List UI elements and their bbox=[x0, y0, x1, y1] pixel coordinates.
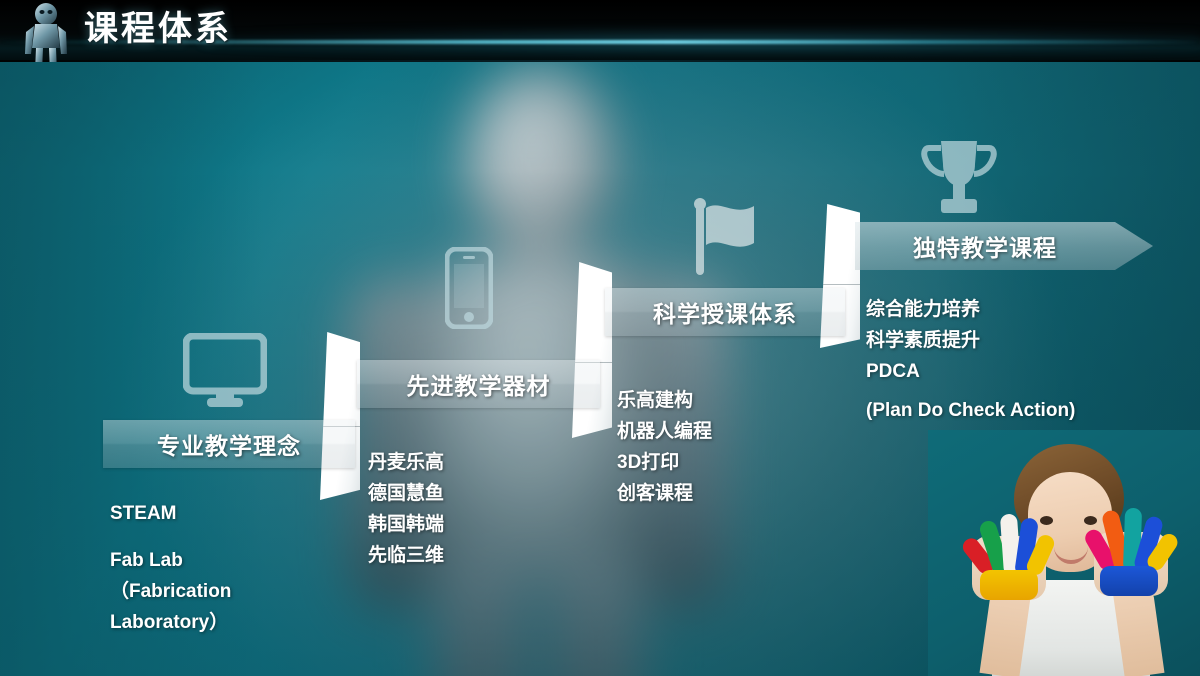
step-2-title-bar[interactable]: 先进教学器材 bbox=[357, 360, 600, 408]
list-item: Fab Lab bbox=[110, 545, 231, 576]
list-item: 德国慧鱼 bbox=[368, 478, 444, 509]
list-item: 创客课程 bbox=[617, 478, 712, 509]
monitor-icon bbox=[183, 333, 267, 411]
painted-hand-right bbox=[1094, 532, 1168, 596]
slide-canvas: 课程体系 bbox=[0, 0, 1200, 676]
slide-header: 课程体系 bbox=[0, 0, 1200, 62]
painted-hand-left bbox=[972, 536, 1046, 600]
list-item: 机器人编程 bbox=[617, 416, 712, 447]
list-item: （Fabrication bbox=[110, 576, 231, 607]
list-item: 先临三维 bbox=[368, 540, 444, 571]
smartphone-icon bbox=[445, 247, 493, 329]
step-4-item-list: 综合能力培养 科学素质提升 PDCA (Plan Do Check Action… bbox=[866, 294, 1075, 426]
list-item: 综合能力培养 bbox=[866, 294, 1075, 325]
step-4-title-bar[interactable]: 独特教学课程 bbox=[855, 222, 1153, 270]
step-4-title: 独特教学课程 bbox=[913, 229, 1057, 263]
robot-mascot-icon bbox=[16, 2, 76, 62]
step-3-title-bar[interactable]: 科学授课体系 bbox=[605, 288, 845, 336]
list-item: 乐高建构 bbox=[617, 385, 712, 416]
list-item: 科学素质提升 bbox=[866, 325, 1075, 356]
list-item: STEAM bbox=[110, 498, 231, 529]
list-item: (Plan Do Check Action) bbox=[866, 395, 1075, 426]
step-1-title-bar[interactable]: 专业教学理念 bbox=[103, 420, 355, 468]
trophy-icon bbox=[917, 138, 1001, 218]
step-3-title: 科学授课体系 bbox=[653, 295, 797, 329]
step-1-title: 专业教学理念 bbox=[157, 427, 301, 461]
list-item: 韩国韩端 bbox=[368, 509, 444, 540]
header-bottom-edge bbox=[0, 60, 1200, 62]
page-title: 课程体系 bbox=[84, 5, 232, 53]
list-item: Laboratory） bbox=[110, 607, 231, 638]
girl-with-painted-hands-photo bbox=[928, 430, 1200, 676]
step-1-item-list: STEAM Fab Lab （Fabrication Laboratory） bbox=[110, 498, 231, 638]
list-item: 3D打印 bbox=[617, 447, 712, 478]
step-3-item-list: 乐高建构 机器人编程 3D打印 创客课程 bbox=[617, 385, 712, 509]
step-2-item-list: 丹麦乐高 德国慧鱼 韩国韩端 先临三维 bbox=[368, 447, 444, 571]
step-2-title: 先进教学器材 bbox=[407, 367, 551, 401]
list-item: 丹麦乐高 bbox=[368, 447, 444, 478]
flag-icon bbox=[690, 197, 762, 279]
list-item: PDCA bbox=[866, 356, 1075, 387]
